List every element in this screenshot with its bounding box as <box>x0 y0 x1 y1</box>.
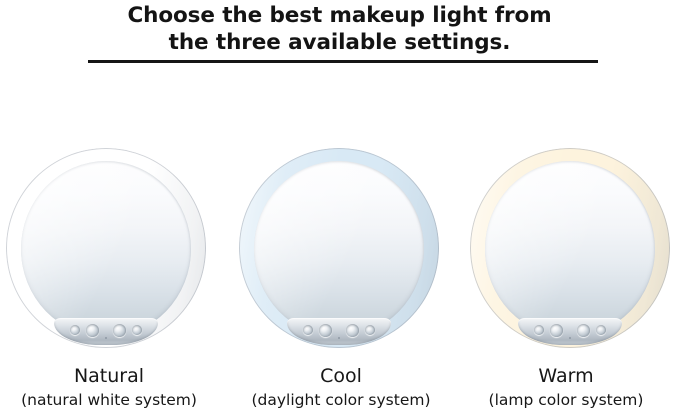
mirror-comparison-row <box>0 146 679 352</box>
caption-subtitle-warm: (lamp color system) <box>453 389 679 411</box>
page-title-line-2: the three available settings. <box>0 29 679 56</box>
caption-title-cool: Cool <box>228 364 454 389</box>
suction-cup-icon <box>113 324 126 337</box>
suction-cup-icon <box>70 325 80 335</box>
product-mirror-warm <box>466 146 674 352</box>
glass-highlight-natural <box>21 161 191 337</box>
caption-title-warm: Warm <box>453 364 679 389</box>
suction-cup-icon <box>365 325 375 335</box>
glass-highlight-warm <box>485 161 655 337</box>
mirror-glass-warm <box>485 161 655 337</box>
base-screw-icon <box>338 337 340 339</box>
suction-cup-icon <box>319 324 332 337</box>
mirror-body-cool <box>239 148 439 348</box>
glass-highlight-cool <box>254 161 424 337</box>
page-title: Choose the best makeup light from the th… <box>0 2 679 56</box>
caption-subtitle-natural: (natural white system) <box>0 389 222 411</box>
mirror-glass-cool <box>254 161 424 337</box>
mirror-body-warm <box>470 148 670 348</box>
caption-cool: Cool (daylight color system) <box>228 364 454 411</box>
caption-natural: Natural (natural white system) <box>0 364 222 411</box>
product-mirror-cool <box>235 146 443 352</box>
suction-cup-icon <box>132 325 142 335</box>
base-screw-icon <box>569 337 571 339</box>
caption-row: Natural (natural white system) Cool (day… <box>0 364 679 420</box>
mirror-body-natural <box>6 148 206 348</box>
caption-subtitle-cool: (daylight color system) <box>228 389 454 411</box>
page-title-line-1: Choose the best makeup light from <box>0 2 679 29</box>
suction-cup-icon <box>303 325 313 335</box>
product-mirror-natural <box>2 146 210 352</box>
caption-title-natural: Natural <box>0 364 222 389</box>
title-divider <box>88 60 598 63</box>
suction-cup-icon <box>550 324 563 337</box>
suction-cup-icon <box>86 324 99 337</box>
suction-cup-icon <box>596 325 606 335</box>
suction-cup-icon <box>577 324 590 337</box>
caption-warm: Warm (lamp color system) <box>453 364 679 411</box>
mirror-glass-natural <box>21 161 191 337</box>
suction-cup-icon <box>346 324 359 337</box>
base-screw-icon <box>105 337 107 339</box>
suction-cup-icon <box>534 325 544 335</box>
